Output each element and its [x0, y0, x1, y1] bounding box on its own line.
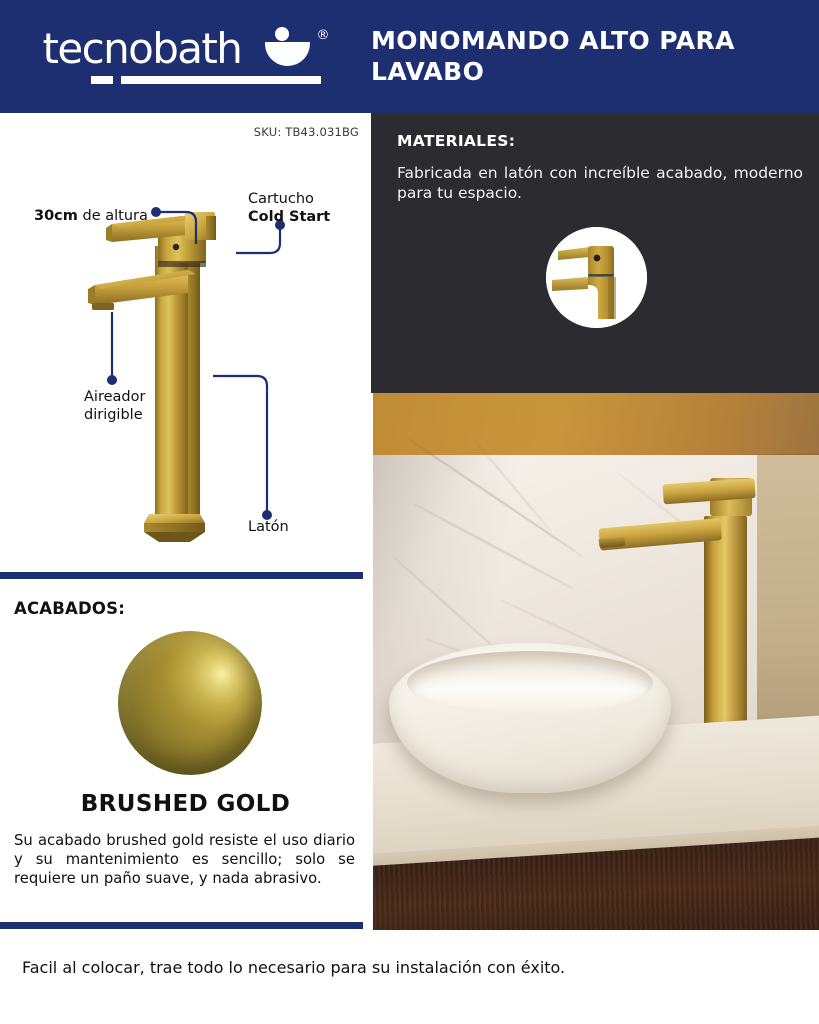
registered-trademark-icon: ®: [317, 28, 330, 43]
callout-brass: Latón: [248, 519, 338, 537]
gold-sphere-swatch-icon: [118, 631, 262, 775]
callout-cartridge: Cartucho Cold Start: [248, 191, 358, 226]
logo-underline-dash: [91, 76, 113, 84]
faucet-diagram: 30cm de altura Cartucho Cold Start Airea…: [0, 113, 371, 572]
materiales-detail-photo: [546, 227, 647, 328]
callout-height-value: 30cm: [34, 208, 78, 224]
lifestyle-photo: [373, 393, 819, 930]
footer-note: Facil al colocar, trae todo lo necesario…: [22, 958, 792, 979]
sink-bowl-icon: [265, 42, 310, 66]
acabados-section: ACABADOS: BRUSHED GOLD Su acabado brushe…: [0, 579, 371, 922]
section-divider-top: [0, 572, 363, 579]
page-title: MONOMANDO ALTO PARA LAVABO: [371, 26, 761, 87]
materiales-body-text: Fabricada en latón con increíble acabado…: [397, 164, 803, 204]
callout-cartridge-word: Cartucho: [248, 191, 314, 207]
callout-cartridge-value: Cold Start: [248, 209, 330, 225]
callout-connectors: [0, 113, 371, 572]
photo-basin-rim: [407, 651, 653, 715]
callout-height-rest: de altura: [78, 208, 148, 224]
brand-logo: tecnobath ®: [0, 0, 371, 113]
header-title-zone: MONOMANDO ALTO PARA LAVABO: [371, 0, 819, 113]
faucet-detail-illustration: [546, 227, 647, 328]
finish-name: BRUSHED GOLD: [0, 791, 371, 817]
logo-underline-bar: [121, 76, 321, 84]
sink-bowl-icon-dot: [275, 27, 289, 41]
acabados-title: ACABADOS:: [14, 599, 125, 618]
section-divider-bottom: [0, 922, 363, 929]
callout-aerator: Aireador dirigible: [84, 389, 194, 424]
page-header: tecnobath ® MONOMANDO ALTO PARA LAVABO: [0, 0, 819, 113]
left-column: SKU: TB43.031BG: [0, 113, 371, 1024]
materiales-title: MATERIALES:: [397, 132, 515, 150]
finish-description: Su acabado brushed gold resiste el uso d…: [14, 831, 355, 889]
callout-height: 30cm de altura: [34, 208, 149, 226]
brand-name-text: tecnobath: [43, 23, 242, 75]
product-spec-sheet: tecnobath ® MONOMANDO ALTO PARA LAVABO S…: [0, 0, 819, 1024]
